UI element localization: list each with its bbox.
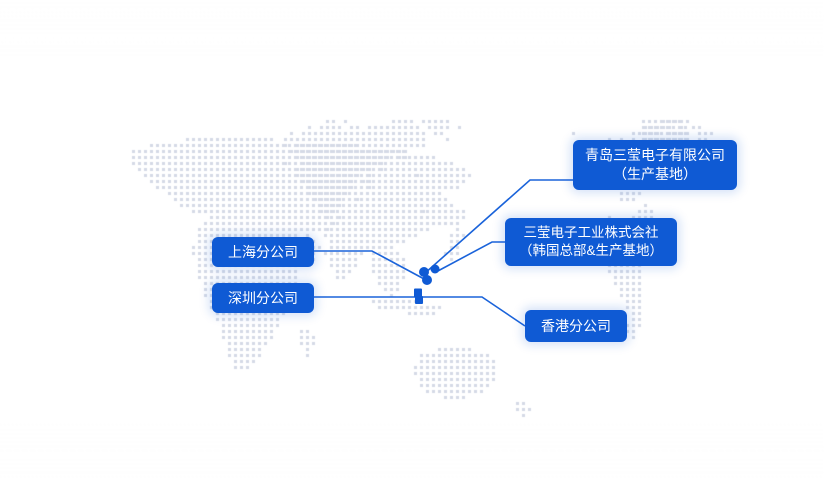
map-dot-canvas — [0, 0, 824, 480]
label-qingdao[interactable]: 青岛三莹电子有限公司 （生产基地） — [573, 140, 737, 190]
dotted-world-map — [0, 0, 824, 480]
label-shenzhen-line1: 深圳分公司 — [228, 289, 298, 308]
label-qingdao-line2: （生产基地） — [613, 165, 697, 184]
korea-marker-dot[interactable] — [431, 265, 440, 274]
shanghai-marker-dot[interactable] — [422, 275, 432, 285]
hongkong-marker-dot[interactable] — [415, 296, 423, 304]
label-hongkong-line1: 香港分公司 — [541, 317, 611, 336]
label-shanghai[interactable]: 上海分公司 — [212, 237, 314, 267]
label-korea-line2: （韩国总部&生产基地） — [519, 242, 663, 260]
world-map-infographic: 青岛三莹电子有限公司 （生产基地） 三莹电子工业株式会社 （韩国总部&生产基地）… — [0, 0, 824, 480]
label-hongkong[interactable]: 香港分公司 — [525, 310, 627, 342]
label-qingdao-line1: 青岛三莹电子有限公司 — [585, 146, 725, 165]
label-shenzhen[interactable]: 深圳分公司 — [212, 283, 314, 313]
label-korea[interactable]: 三莹电子工业株式会社 （韩国总部&生产基地） — [505, 218, 677, 266]
label-shanghai-line1: 上海分公司 — [228, 243, 298, 262]
label-korea-line1: 三莹电子工业株式会社 — [524, 224, 659, 242]
